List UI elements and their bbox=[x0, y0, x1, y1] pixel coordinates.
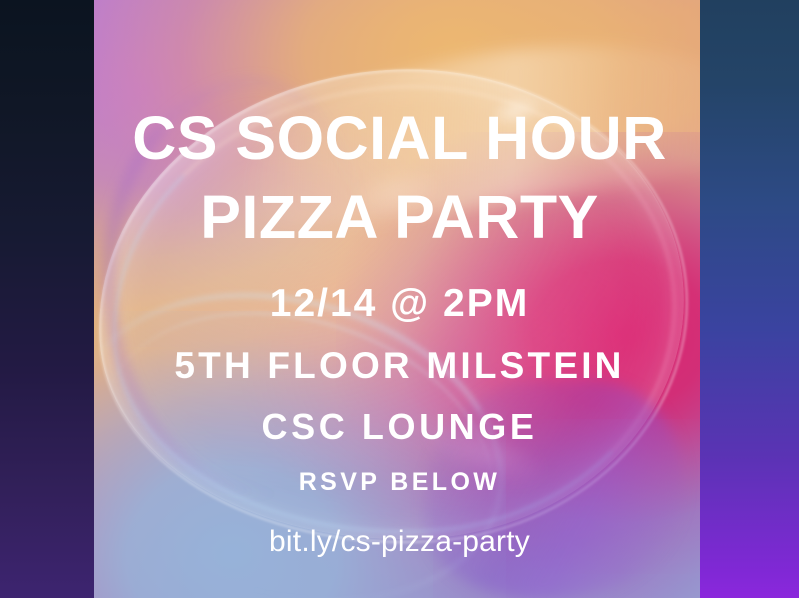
event-poster: CS SOCIAL HOUR PIZZA PARTY 12/14 @ 2PM 5… bbox=[0, 0, 799, 598]
poster-text-block: CS SOCIAL HOUR PIZZA PARTY 12/14 @ 2PM 5… bbox=[0, 0, 799, 598]
event-location-line-2: CSC LOUNGE bbox=[261, 406, 537, 448]
event-location-line-1: 5TH FLOOR MILSTEIN bbox=[174, 345, 624, 387]
rsvp-url[interactable]: bit.ly/cs-pizza-party bbox=[269, 525, 530, 559]
event-date-time: 12/14 @ 2PM bbox=[270, 282, 530, 326]
rsvp-call-to-action: RSVP BELOW bbox=[299, 468, 501, 497]
headline-line-1: CS SOCIAL HOUR bbox=[132, 108, 667, 169]
headline-line-2: PIZZA PARTY bbox=[200, 187, 599, 248]
